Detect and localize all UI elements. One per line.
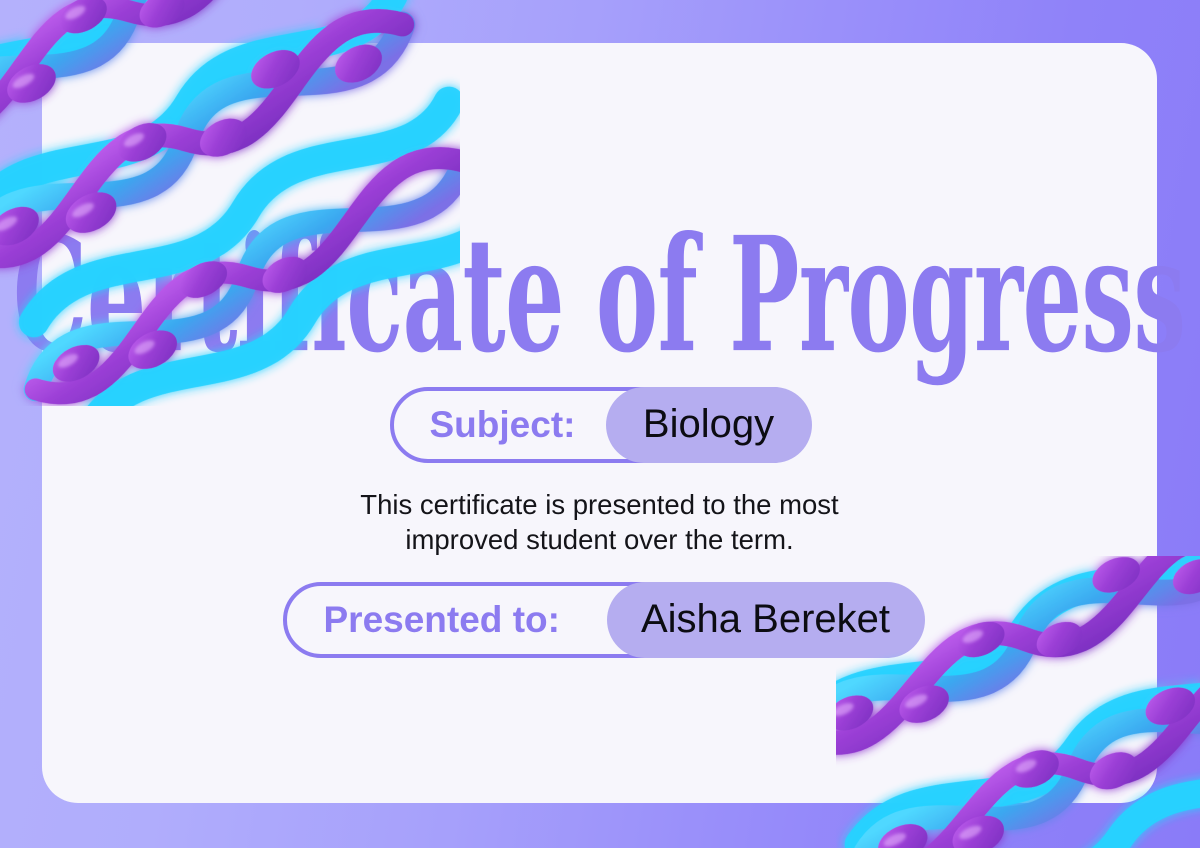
subject-field[interactable]: Subject: Biology: [390, 387, 810, 463]
recipient-name-value[interactable]: Aisha Bereket: [607, 582, 925, 658]
presented-to-field[interactable]: Presented to: Aisha Bereket: [283, 582, 917, 658]
page-title: Certificate of Progress: [13, 216, 1185, 374]
subject-label: Subject:: [430, 404, 576, 446]
presented-to-label: Presented to:: [324, 599, 560, 641]
certificate-description: This certificate is presented to the mos…: [360, 487, 838, 557]
subject-value[interactable]: Biology: [606, 387, 812, 463]
certificate-root: Certificate of Progress Subject: Biology…: [0, 0, 1200, 848]
page-title-wrap: Certificate of Progress: [42, 229, 1157, 361]
